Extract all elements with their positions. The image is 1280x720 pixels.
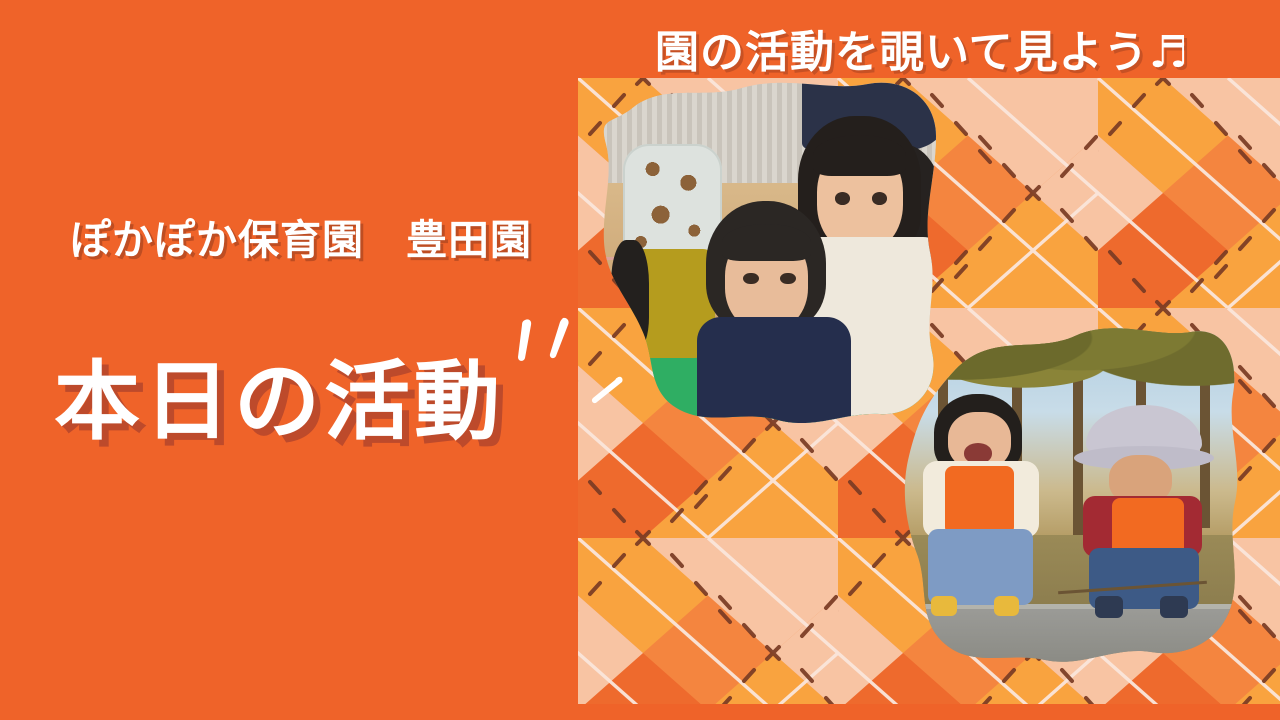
banner-text: 園の活動を覗いて見よう♬ xyxy=(655,16,1189,80)
slide-canvas: 園の活動を覗いて見よう♬ ぽかぽか保育園 豊田園 本日の活動 xyxy=(0,0,1280,720)
sparkle-lines-icon xyxy=(505,312,625,422)
school-name: ぽかぽか保育園 豊田園 xyxy=(70,206,532,266)
page-title: 本日の活動 xyxy=(54,355,504,450)
